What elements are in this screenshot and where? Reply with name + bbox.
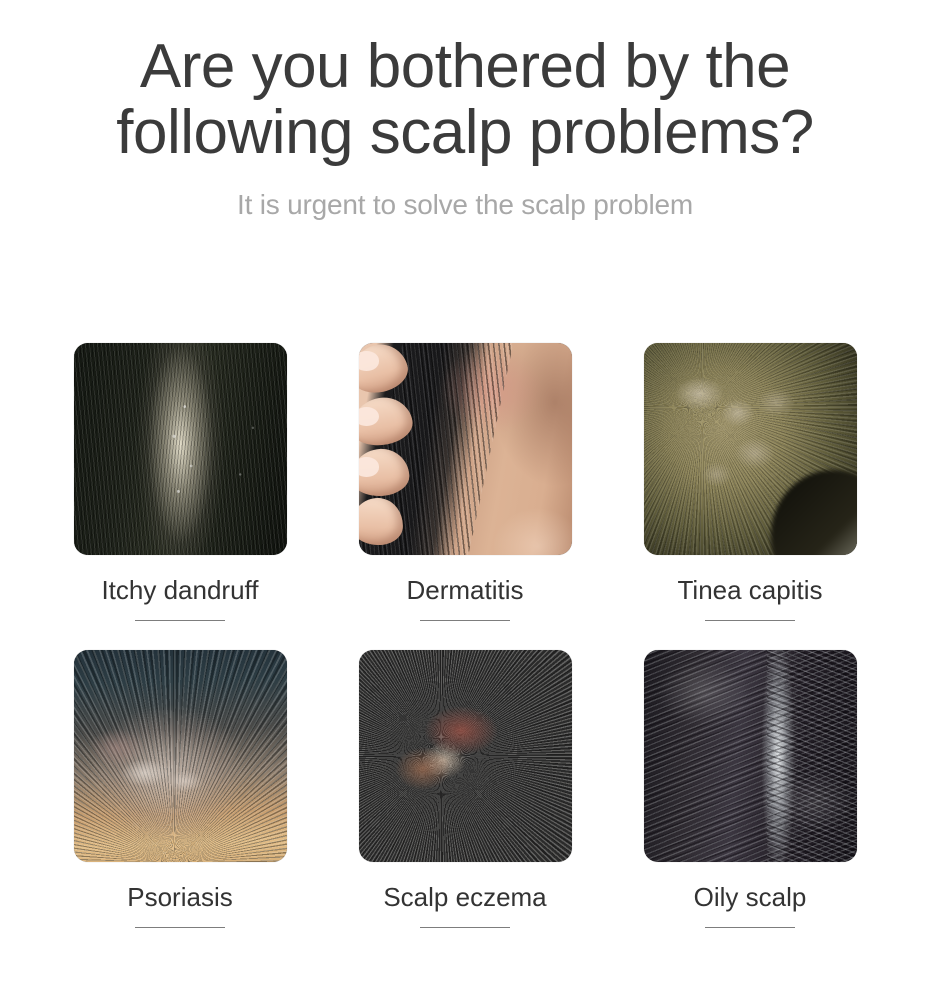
oily-scalp-thumbnail[interactable] <box>644 650 857 862</box>
fingers-holding-hair <box>359 343 423 555</box>
page-title: Are you bothered by the following scalp … <box>55 34 875 167</box>
dermatitis-photo <box>359 343 572 555</box>
label-underline <box>135 927 225 928</box>
psoriasis-thumbnail[interactable] <box>74 650 287 862</box>
problem-card-label: Tinea capitis <box>678 577 823 603</box>
tinea-capitis-photo <box>644 343 857 555</box>
oily-sheen-highlight <box>644 650 857 862</box>
problem-card-grid: Itchy dandruff Dermatitis <box>0 343 930 928</box>
scalp-eczema-thumbnail[interactable] <box>359 650 572 862</box>
card-row-2: Psoriasis Scalp eczema <box>0 650 930 928</box>
page-header: Are you bothered by the following scalp … <box>0 0 930 221</box>
label-underline <box>705 927 795 928</box>
dandruff-flake-texture <box>74 343 287 555</box>
page-title-line-1: Are you bothered by the <box>55 34 875 100</box>
problem-card-scalp-eczema[interactable]: Scalp eczema <box>359 650 572 928</box>
problem-card-oily-scalp[interactable]: Oily scalp <box>644 650 857 928</box>
label-underline <box>420 620 510 621</box>
problem-card-label: Psoriasis <box>127 884 232 910</box>
label-underline <box>135 620 225 621</box>
page-subtitle: It is urgent to solve the scalp problem <box>0 189 930 221</box>
label-underline <box>705 620 795 621</box>
problem-card-tinea-capitis[interactable]: Tinea capitis <box>644 343 857 621</box>
problem-card-dermatitis[interactable]: Dermatitis <box>359 343 572 621</box>
psoriasis-photo <box>74 650 287 862</box>
problem-card-label: Dermatitis <box>406 577 523 603</box>
dermatitis-thumbnail[interactable] <box>359 343 572 555</box>
card-row-1: Itchy dandruff Dermatitis <box>0 343 930 621</box>
scalp-eczema-photo <box>359 650 572 862</box>
problem-card-label: Scalp eczema <box>383 884 546 910</box>
page-title-line-2: following scalp problems? <box>55 100 875 166</box>
problem-card-psoriasis[interactable]: Psoriasis <box>74 650 287 928</box>
tinea-capitis-thumbnail[interactable] <box>644 343 857 555</box>
label-underline <box>420 927 510 928</box>
scalp-problems-page: Are you bothered by the following scalp … <box>0 0 930 994</box>
problem-card-label: Oily scalp <box>694 884 807 910</box>
psoriasis-plaque-texture <box>74 650 287 862</box>
itchy-dandruff-thumbnail[interactable] <box>74 343 287 555</box>
problem-card-label: Itchy dandruff <box>101 577 258 603</box>
problem-card-itchy-dandruff[interactable]: Itchy dandruff <box>74 343 287 621</box>
oily-scalp-photo <box>644 650 857 862</box>
itchy-dandruff-photo <box>74 343 287 555</box>
inflamed-skin-texture <box>359 650 572 862</box>
